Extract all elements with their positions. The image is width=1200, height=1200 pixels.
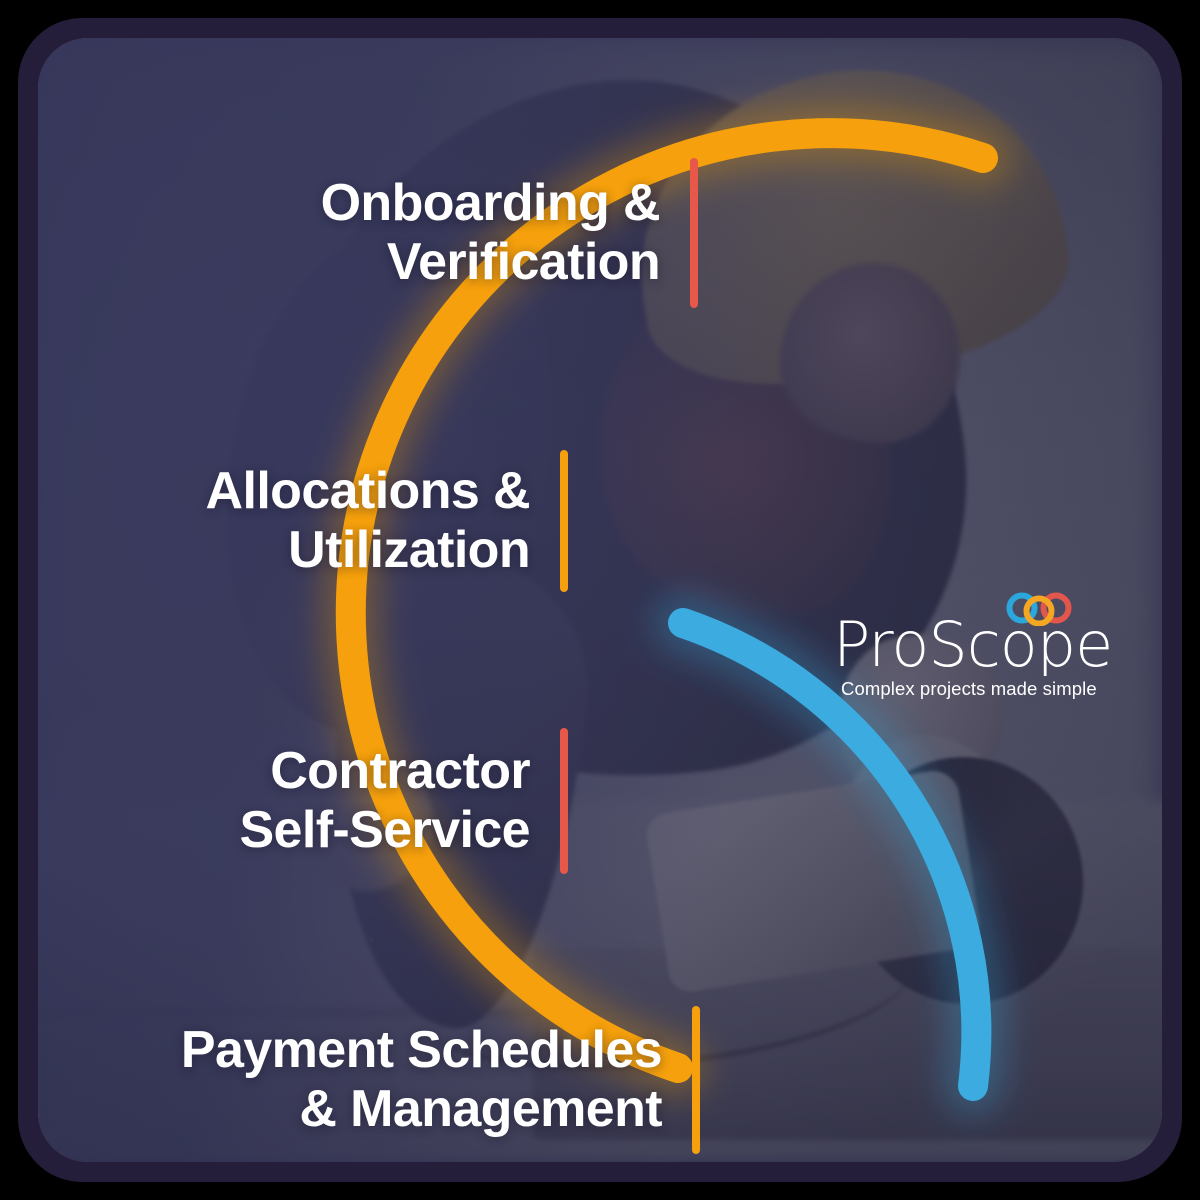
proscope-logo[interactable]: ProScope Complex projects made simple	[833, 586, 1145, 708]
logo-wordmark-text: ProScope	[833, 612, 1112, 676]
feature-row-allocations-utilization[interactable]: Allocations & Utilization	[158, 450, 568, 592]
feature-label-onboarding-verification: Onboarding & Verification	[321, 174, 660, 293]
feature-label-allocations-utilization: Allocations & Utilization	[206, 462, 530, 581]
feature-accent-bar-amber	[560, 450, 568, 592]
logo-wordmark: ProScope	[833, 612, 1145, 676]
feature-accent-bar-red	[690, 158, 698, 308]
feature-row-payment-schedules-management[interactable]: Payment Schedules & Management	[148, 1006, 700, 1154]
feature-label-payment-schedules-management: Payment Schedules & Management	[181, 1021, 662, 1140]
logo-tagline: Complex projects made simple	[841, 678, 1097, 700]
feature-row-contractor-self-service[interactable]: Contractor Self-Service	[158, 728, 568, 874]
feature-accent-bar-red-2	[560, 728, 568, 874]
feature-label-contractor-self-service: Contractor Self-Service	[239, 742, 530, 861]
feature-card: Onboarding & Verification Allocations & …	[38, 38, 1162, 1162]
poster-canvas: Onboarding & Verification Allocations & …	[0, 0, 1200, 1200]
feature-accent-bar-amber-2	[692, 1006, 700, 1154]
feature-row-onboarding-verification[interactable]: Onboarding & Verification	[158, 158, 698, 308]
